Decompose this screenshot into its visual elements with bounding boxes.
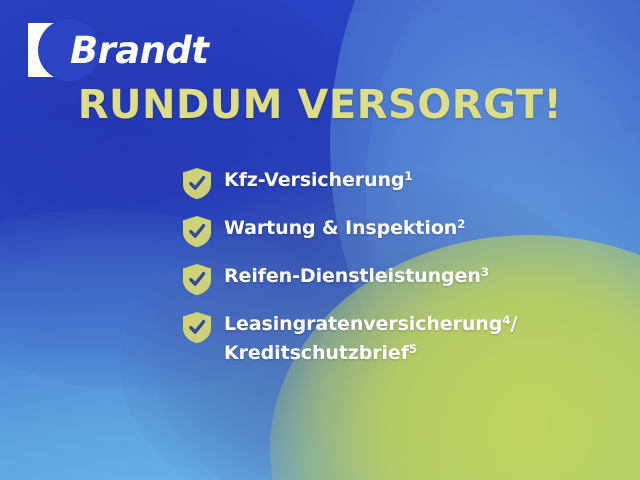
page-title: RUNDUM VERSORGT! bbox=[0, 84, 640, 126]
shield-check-icon bbox=[182, 263, 212, 296]
benefit-label: Leasingratenversicherung bbox=[224, 313, 502, 335]
benefit-label: Wartung & Inspektion bbox=[224, 217, 457, 239]
benefit-footnote: 2 bbox=[457, 217, 465, 231]
bracket-mark-icon bbox=[28, 23, 62, 77]
benefit-footnote-second: 5 bbox=[409, 342, 417, 356]
list-item: Leasingratenversicherung4/ Kreditschutzb… bbox=[182, 310, 612, 369]
shield-check-icon bbox=[182, 167, 212, 200]
benefits-list: Kfz-Versicherung1 Wartung & Inspektion2 … bbox=[182, 166, 612, 383]
benefit-label: Reifen-Dienstleistungen bbox=[224, 265, 481, 287]
list-item: Reifen-Dienstleistungen3 bbox=[182, 262, 612, 296]
list-item-label: Wartung & Inspektion2 bbox=[224, 214, 465, 243]
list-item: Kfz-Versicherung1 bbox=[182, 166, 612, 200]
benefit-footnote: 3 bbox=[481, 265, 489, 279]
list-item-label: Kfz-Versicherung1 bbox=[224, 166, 413, 195]
shield-check-icon bbox=[182, 311, 212, 344]
brand-logo: Brandt bbox=[28, 22, 208, 78]
list-item: Wartung & Inspektion2 bbox=[182, 214, 612, 248]
benefit-label-second-line: Kreditschutzbrief bbox=[224, 342, 409, 364]
shield-check-icon bbox=[182, 215, 212, 248]
benefit-separator: / bbox=[510, 313, 517, 335]
benefit-label: Kfz-Versicherung bbox=[224, 169, 404, 191]
promo-slide: Brandt RUNDUM VERSORGT! Kfz-Versicherung… bbox=[0, 0, 640, 480]
list-item-label: Reifen-Dienstleistungen3 bbox=[224, 262, 489, 291]
benefit-footnote: 1 bbox=[404, 169, 412, 183]
benefit-footnote: 4 bbox=[502, 313, 510, 327]
list-item-label: Leasingratenversicherung4/ Kreditschutzb… bbox=[224, 310, 517, 369]
brand-name: Brandt bbox=[70, 32, 208, 69]
